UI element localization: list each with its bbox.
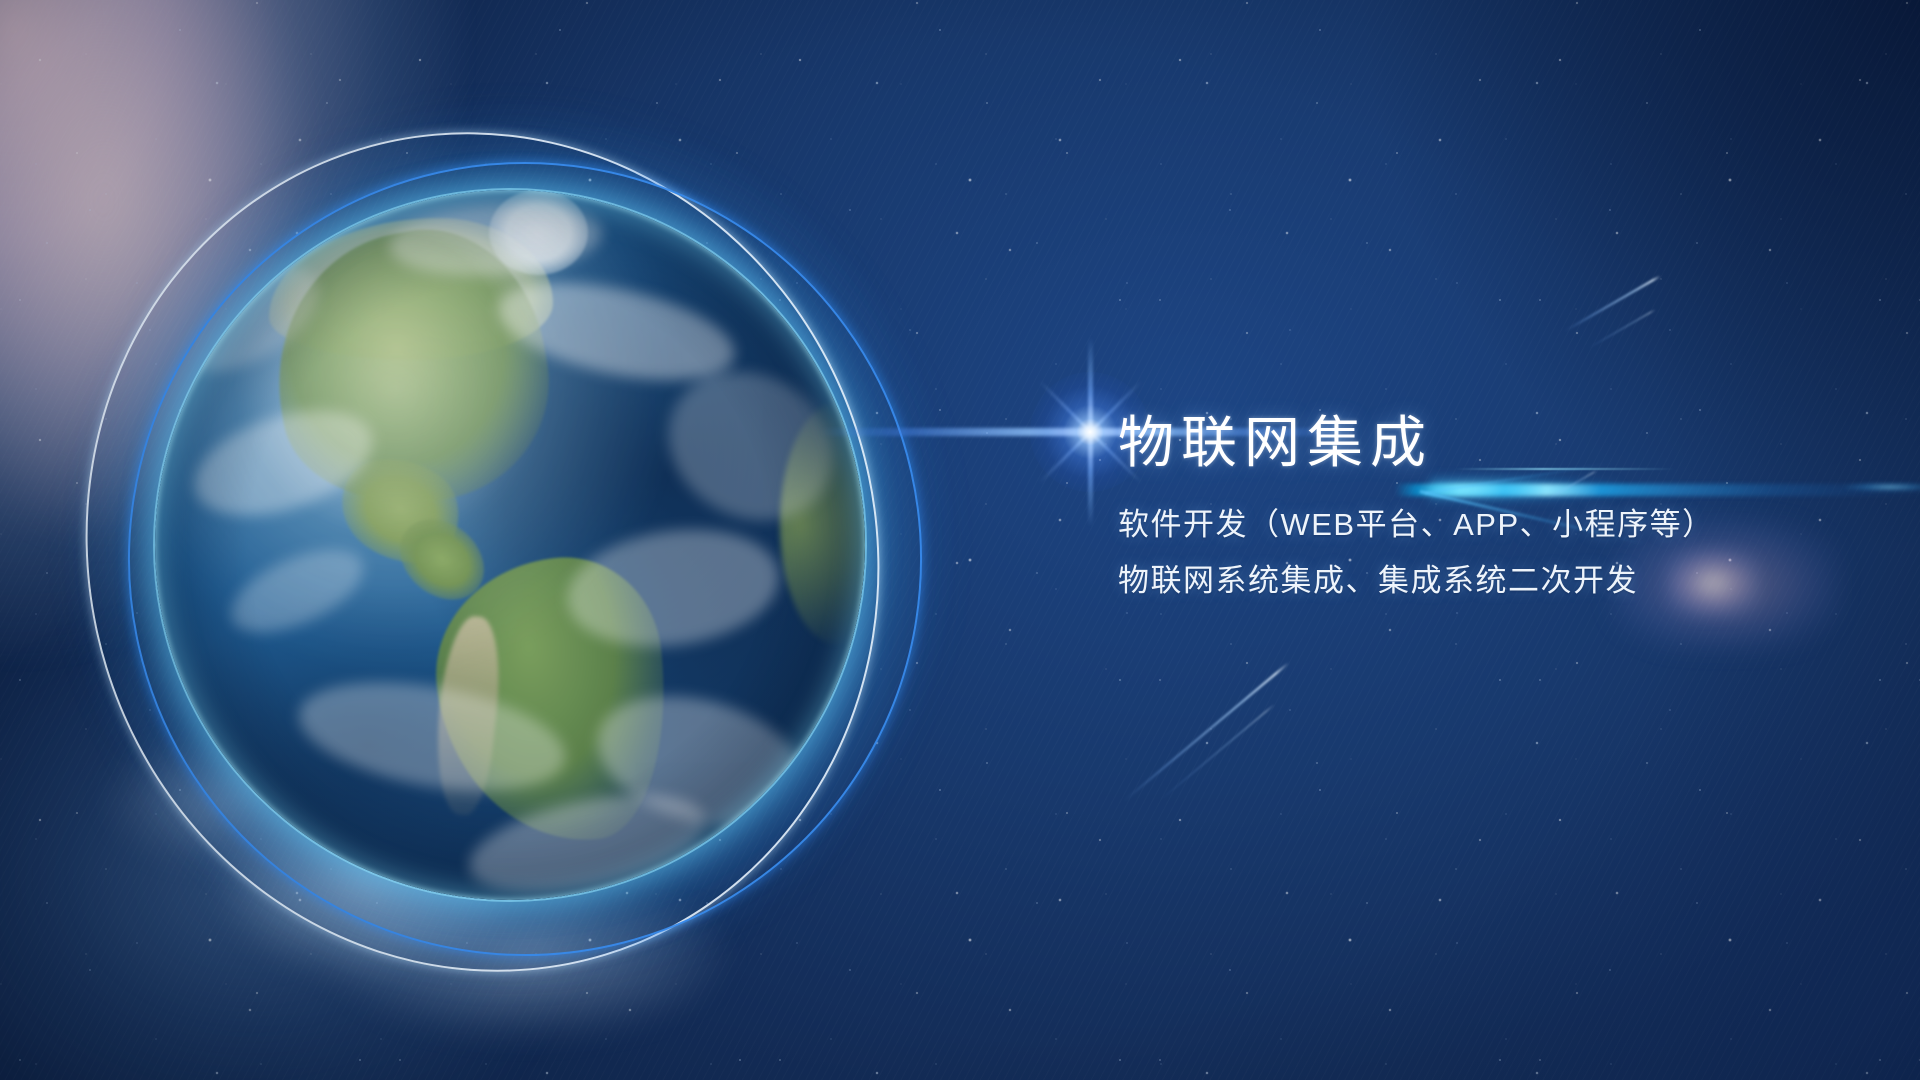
hero-text-block: 物联网集成 软件开发（WEB平台、APP、小程序等） 物联网系统集成、集成系统二… xyxy=(1118,412,1818,596)
hero-subtitle-line-1: 软件开发（WEB平台、APP、小程序等） xyxy=(1118,509,1818,540)
hero-banner: 物联网集成 软件开发（WEB平台、APP、小程序等） 物联网系统集成、集成系统二… xyxy=(0,0,1920,1080)
hero-subtitle-line-2: 物联网系统集成、集成系统二次开发 xyxy=(1118,565,1818,596)
earth-globe xyxy=(155,190,865,900)
lens-flare-right-edge xyxy=(1845,483,1920,491)
globe-group xyxy=(155,190,865,900)
hero-title: 物联网集成 xyxy=(1118,412,1818,475)
globe-atmosphere-rim xyxy=(155,190,865,900)
